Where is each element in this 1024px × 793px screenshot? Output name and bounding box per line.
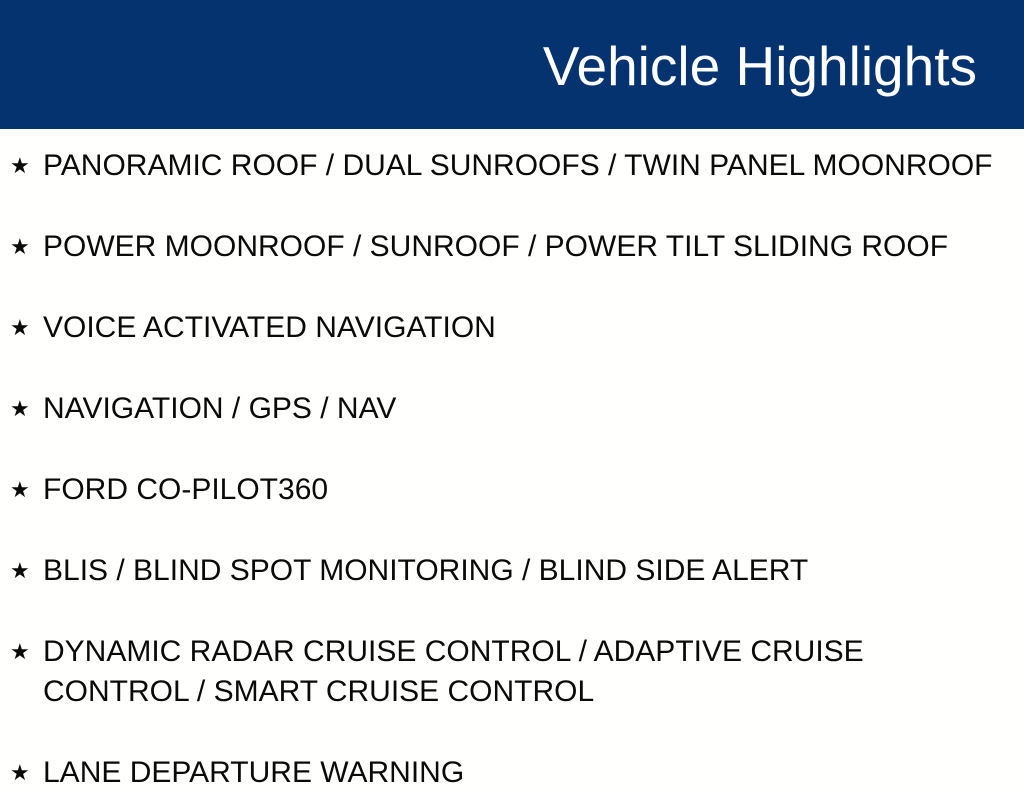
- list-item: ★ PANORAMIC ROOF / DUAL SUNROOFS / TWIN …: [0, 146, 1024, 186]
- star-bullet-icon: ★: [10, 632, 34, 672]
- page-title: Vehicle Highlights: [543, 39, 977, 94]
- slide-header-band: Vehicle Highlights: [0, 0, 1024, 129]
- list-item: ★ DYNAMIC RADAR CRUISE CONTROL / ADAPTIV…: [0, 632, 1024, 712]
- list-item-label: BLIS / BLIND SPOT MONITORING / BLIND SID…: [43, 551, 1006, 591]
- list-item-label: NAVIGATION / GPS / NAV: [43, 389, 1006, 429]
- star-bullet-icon: ★: [10, 146, 34, 186]
- list-item-label: LANE DEPARTURE WARNING: [43, 753, 1006, 793]
- list-item: ★ VOICE ACTIVATED NAVIGATION: [0, 308, 1024, 348]
- star-bullet-icon: ★: [10, 227, 34, 267]
- list-item: ★ LANE DEPARTURE WARNING: [0, 753, 1024, 793]
- star-bullet-icon: ★: [10, 389, 34, 429]
- list-item-label: POWER MOONROOF / SUNROOF / POWER TILT SL…: [43, 227, 1006, 267]
- vehicle-highlights-list: ★ PANORAMIC ROOF / DUAL SUNROOFS / TWIN …: [0, 146, 1024, 793]
- list-item-label: FORD CO-PILOT360: [43, 470, 1006, 510]
- list-item: ★ POWER MOONROOF / SUNROOF / POWER TILT …: [0, 227, 1024, 267]
- star-bullet-icon: ★: [10, 753, 34, 793]
- list-item: ★ BLIS / BLIND SPOT MONITORING / BLIND S…: [0, 551, 1024, 591]
- list-item-label: VOICE ACTIVATED NAVIGATION: [43, 308, 1006, 348]
- list-item: ★ FORD CO-PILOT360: [0, 470, 1024, 510]
- list-item: ★ NAVIGATION / GPS / NAV: [0, 389, 1024, 429]
- star-bullet-icon: ★: [10, 308, 34, 348]
- star-bullet-icon: ★: [10, 470, 34, 510]
- list-item-label: PANORAMIC ROOF / DUAL SUNROOFS / TWIN PA…: [43, 146, 1006, 186]
- list-item-label: DYNAMIC RADAR CRUISE CONTROL / ADAPTIVE …: [43, 632, 1006, 712]
- vehicle-highlights-slide: Vehicle Highlights ★ PANORAMIC ROOF / DU…: [0, 0, 1024, 768]
- star-bullet-icon: ★: [10, 551, 34, 591]
